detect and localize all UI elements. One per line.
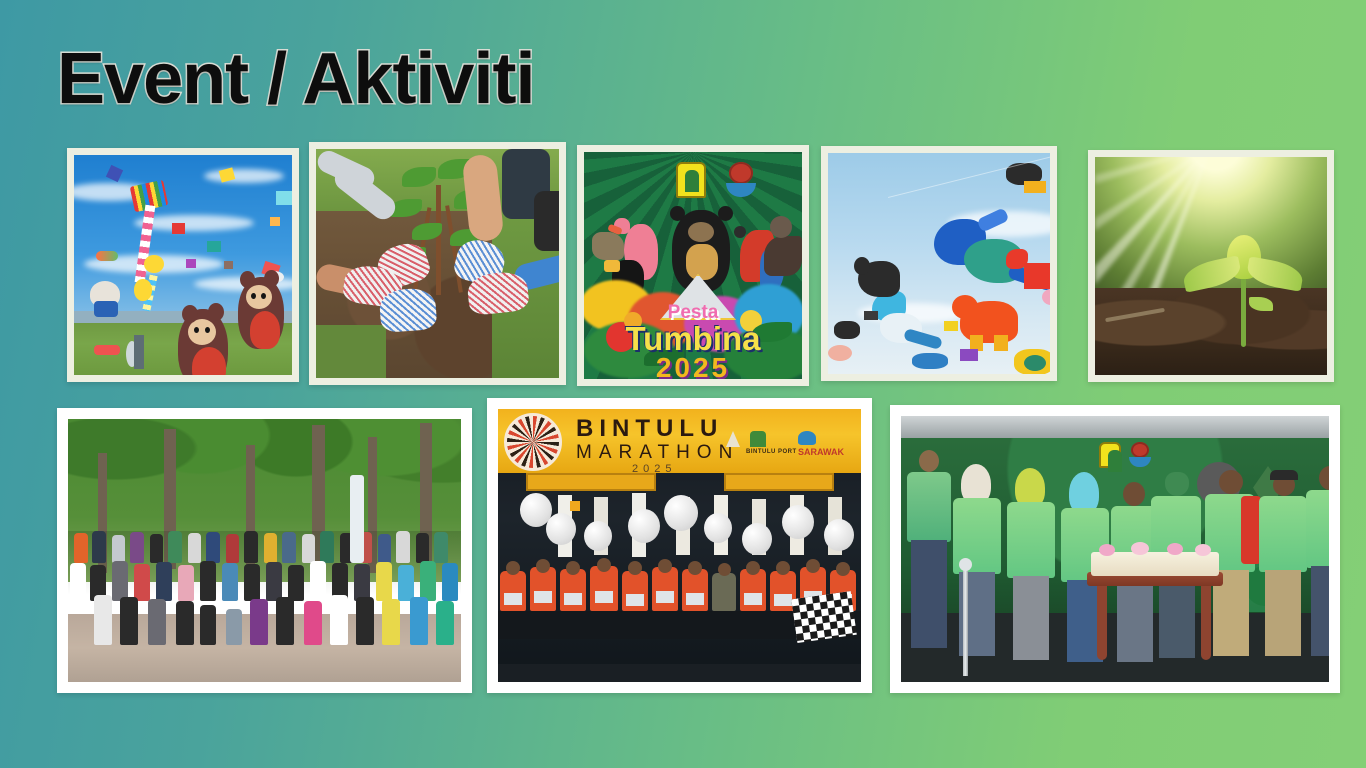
marathon-title-line1: BINTULU [576, 415, 723, 443]
council-shield-logo-icon [676, 162, 706, 198]
photo-kite-festival-mascots [74, 155, 292, 375]
photo-card-pesta-tumbina-poster[interactable]: Pesta Tumbina 2025 [577, 145, 809, 386]
photo-animal-kites-sky [828, 153, 1050, 374]
photo-card-animal-kites[interactable] [821, 146, 1057, 381]
backdrop-globe-logo-icon [1129, 442, 1151, 470]
globe-wave-logo-icon [726, 162, 756, 200]
photo-seedling-sunlight [1095, 157, 1327, 375]
photo-pesta-tumbina-poster: Pesta Tumbina 2025 [584, 152, 802, 379]
photo-card-bintulu-marathon[interactable]: BINTULU MARATHON 2025 BINTULU PORT SARAW… [487, 398, 872, 693]
marathon-sunburst-logo-icon [504, 413, 562, 471]
photo-card-park-group-run[interactable] [57, 408, 472, 693]
photo-cake-cutting-ceremony [901, 416, 1329, 682]
photo-bintulu-marathon-start: BINTULU MARATHON 2025 BINTULU PORT SARAW… [498, 409, 861, 682]
stanchion-pole-icon [963, 566, 968, 676]
checkered-flag-icon [791, 591, 857, 643]
photo-tree-planting-gloves [316, 149, 559, 378]
poster-title-line3: 2025 [584, 352, 802, 379]
sponsor-logo-bintulu-port: BINTULU PORT [746, 449, 797, 455]
photo-card-seedling[interactable] [1088, 150, 1334, 382]
photo-card-kite-festival[interactable] [67, 148, 299, 382]
backdrop-council-logo-icon [1099, 442, 1121, 468]
sponsor-logo-sarawak: SARAWAK [798, 447, 844, 457]
page-title: Event / Aktiviti [57, 38, 534, 120]
photo-card-tree-planting[interactable] [309, 142, 566, 385]
marathon-title-line2: MARATHON [576, 442, 739, 464]
photo-park-group-run [68, 419, 461, 682]
photo-card-cake-cutting[interactable] [890, 405, 1340, 693]
